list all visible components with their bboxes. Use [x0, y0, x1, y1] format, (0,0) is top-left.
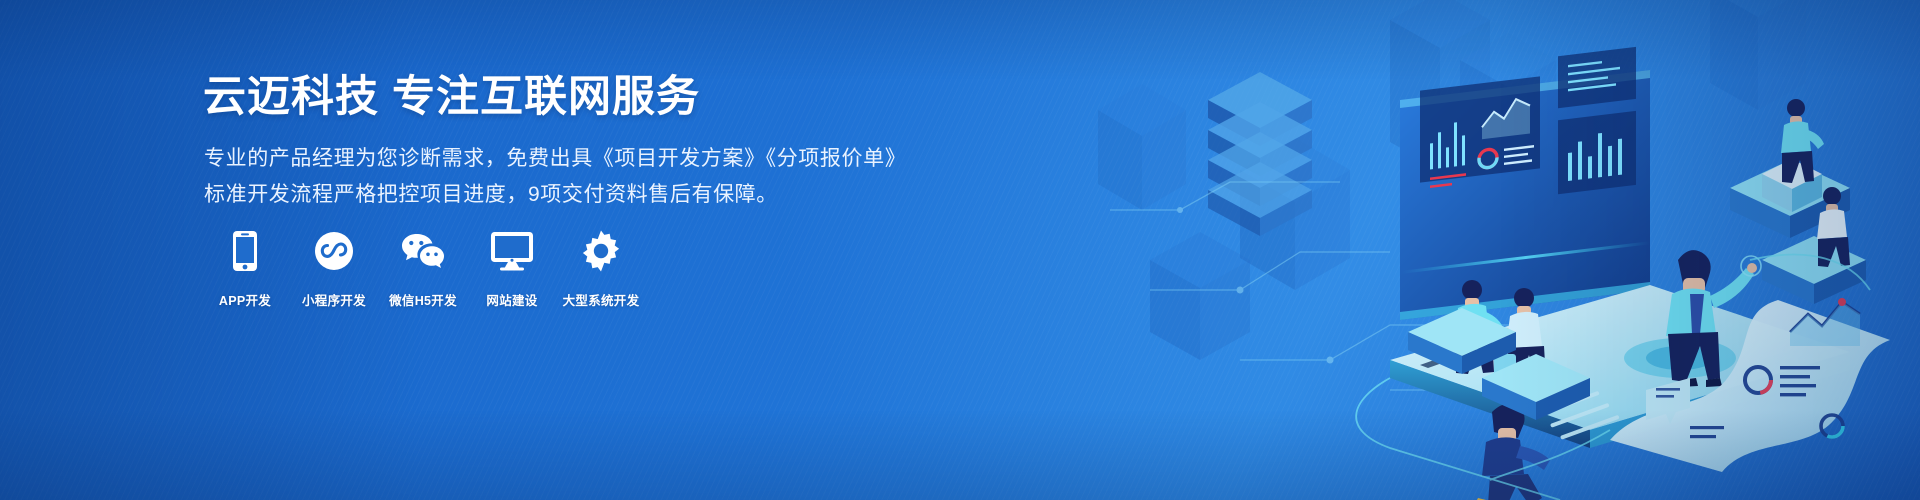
server-stack — [1208, 72, 1312, 236]
service-list: APP开发 小程序开发 — [203, 228, 637, 309]
service-label: 小程序开发 — [302, 290, 366, 309]
page-title: 云迈科技 专注互联网服务 — [203, 76, 700, 119]
service-label: APP开发 — [219, 290, 271, 309]
subtitle-line-2: 标准开发流程严格把控项目进度，9项交付资料售后有保障。 — [204, 178, 778, 212]
service-item-website[interactable]: 网站建设 — [476, 228, 548, 309]
subtitle-line-1: 专业的产品经理为您诊断需求，免费出具《项目开发方案》《分项报价单》 — [204, 142, 906, 176]
hero-banner: 云迈科技 专注互联网服务 专业的产品经理为您诊断需求，免费出具《项目开发方案》《… — [0, 0, 1920, 500]
gear-icon — [580, 228, 622, 274]
monitor-icon — [490, 228, 534, 274]
banner-copy: 云迈科技 专注互联网服务 专业的产品经理为您诊断需求，免费出具《项目开发方案》《… — [203, 0, 923, 500]
service-label: 大型系统开发 — [563, 290, 640, 309]
service-item-wechat-h5[interactable]: 微信H5开发 — [387, 228, 459, 309]
service-label: 微信H5开发 — [389, 290, 457, 309]
wechat-icon — [400, 228, 446, 274]
isometric-tech-illustration — [1090, 0, 1920, 500]
service-item-app[interactable]: APP开发 — [209, 228, 281, 309]
mini-program-icon — [314, 228, 354, 274]
service-item-large-system[interactable]: 大型系统开发 — [565, 228, 637, 309]
mobile-phone-icon — [232, 228, 258, 274]
service-label: 网站建设 — [486, 290, 537, 309]
service-item-mini-program[interactable]: 小程序开发 — [298, 228, 370, 309]
